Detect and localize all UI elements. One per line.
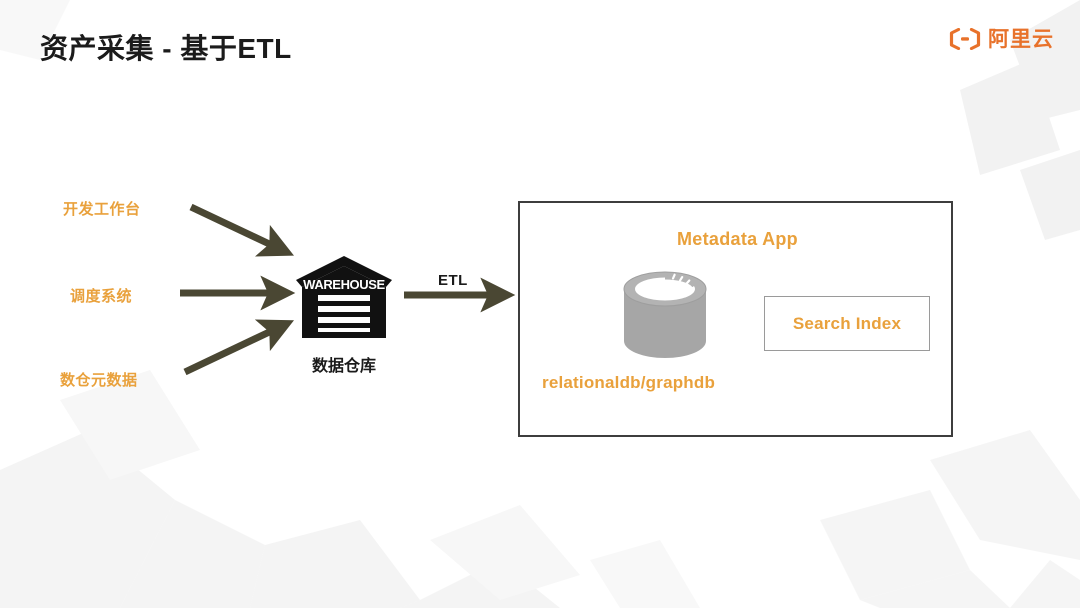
search-index-label: Search Index [793,314,901,334]
warehouse-caption: 数据仓库 [296,352,392,376]
source-label-dev-workbench: 开发工作台 [63,198,141,219]
aliyun-bracket-icon [948,28,982,50]
metadata-app-box: Metadata App relationaldb/graphdb Search… [518,201,953,437]
database-cylinder-icon [612,259,718,365]
arrow-up-right-icon [185,326,282,372]
page-title: 资产采集 - 基于ETL [40,27,292,67]
warehouse-icon: WAREHOUSE [296,256,392,338]
database-caption: relationaldb/graphdb [542,373,715,393]
source-label-warehouse-metadata: 数仓元数据 [60,369,138,390]
slide-canvas: 资产采集 - 基于ETL 阿里云 开发工作台 调度系统 数仓元数据 [0,0,1080,608]
brand-name: 阿里云 [988,29,1054,50]
etl-label: ETL [438,272,468,289]
brand-logo: 阿里云 [948,28,1054,50]
search-index-box[interactable]: Search Index [764,296,930,351]
warehouse-icon-text: WAREHOUSE [303,277,385,292]
metadata-app-title: Metadata App [520,229,955,250]
source-label-scheduler: 调度系统 [70,285,132,306]
arrow-down-right-icon [191,207,282,250]
